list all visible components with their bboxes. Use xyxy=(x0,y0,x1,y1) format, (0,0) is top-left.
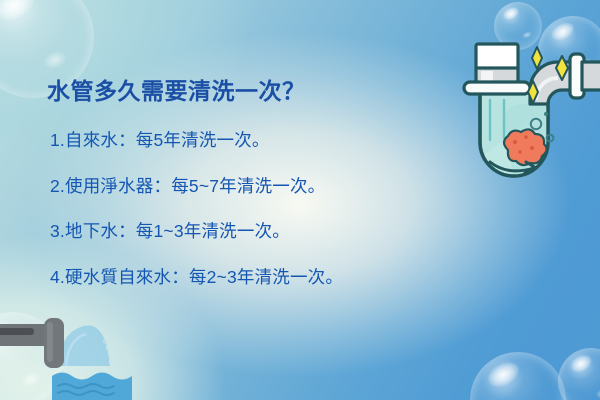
faucet-water-icon xyxy=(0,300,180,400)
answer-list: 1.自來水：每5年清洗一次。 2.使用淨水器：每5~7年清洗一次。 3.地下水：… xyxy=(50,132,520,286)
list-item: 3.地下水：每1~3年清洗一次。 xyxy=(50,223,520,241)
slide-canvas: 水管多久需要清洗一次？ 1.自來水：每5年清洗一次。 2.使用淨水器：每5~7年… xyxy=(0,0,600,400)
bubble-bottom-right-large-icon xyxy=(470,352,566,400)
list-item: 1.自來水：每5年清洗一次。 xyxy=(50,132,520,150)
bubble-bottom-right-small-icon xyxy=(558,348,600,400)
page-title: 水管多久需要清洗一次？ xyxy=(47,72,306,106)
list-item: 4.硬水質自來水：每2~3年清洗一次。 xyxy=(50,269,520,287)
list-item: 2.使用淨水器：每5~7年清洗一次。 xyxy=(50,178,520,196)
